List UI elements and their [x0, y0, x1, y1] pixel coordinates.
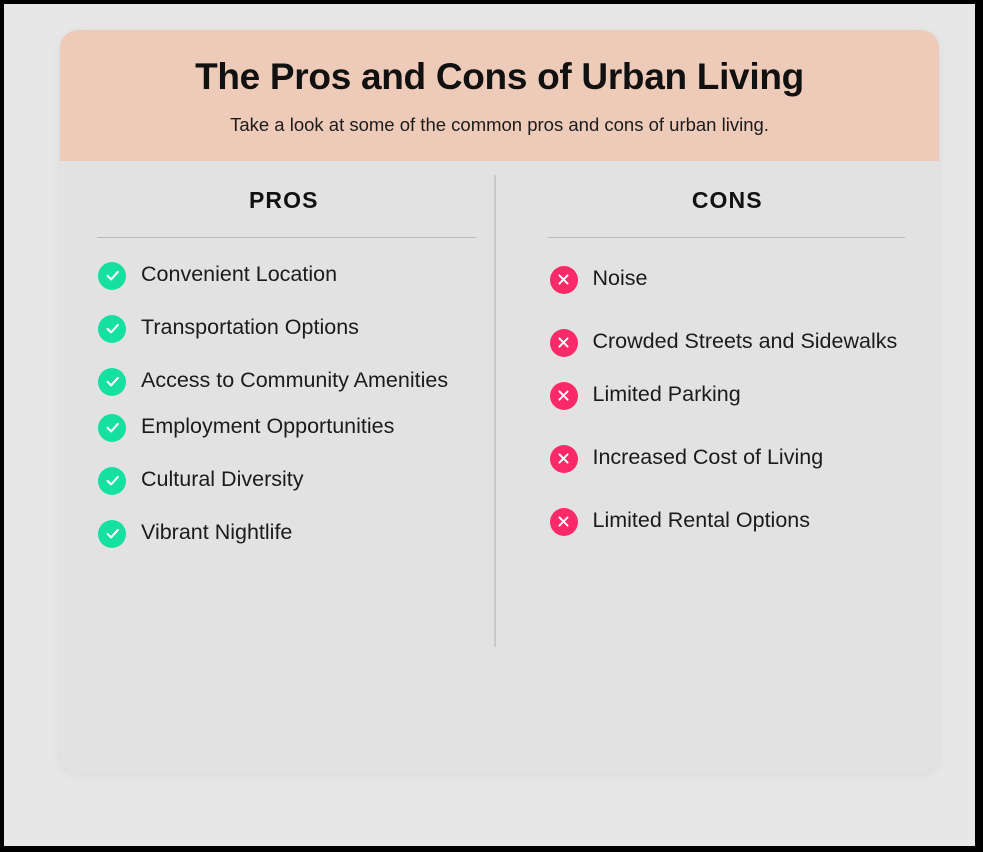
cons-list: Noise Crowded Streets and Sidewalks — [538, 264, 910, 536]
page-background: The Pros and Cons of Urban Living Take a… — [4, 4, 975, 846]
list-item: Access to Community Amenities — [82, 366, 486, 396]
cons-column-title: CONS — [538, 187, 910, 214]
list-item: Crowded Streets and Sidewalks — [538, 327, 910, 357]
x-circle-icon — [550, 266, 578, 294]
pros-column: PROS Convenient Location — [60, 161, 500, 705]
list-item-label: Increased Cost of Living — [593, 443, 824, 471]
list-item: Increased Cost of Living — [538, 443, 910, 473]
list-item-label: Access to Community Amenities — [141, 366, 448, 394]
card-body: PROS Convenient Location — [60, 161, 939, 705]
pros-cons-card: The Pros and Cons of Urban Living Take a… — [60, 30, 939, 773]
list-item-label: Cultural Diversity — [141, 465, 303, 493]
list-item-label: Limited Parking — [593, 380, 741, 408]
pros-list: Convenient Location Transportation Optio… — [82, 260, 486, 548]
check-circle-icon — [98, 467, 126, 495]
list-item-label: Crowded Streets and Sidewalks — [593, 327, 898, 355]
list-item: Noise — [538, 264, 910, 294]
card-header: The Pros and Cons of Urban Living Take a… — [60, 30, 939, 161]
list-item: Vibrant Nightlife — [82, 518, 486, 548]
list-item: Transportation Options — [82, 313, 486, 343]
list-item-label: Convenient Location — [141, 260, 337, 288]
x-circle-icon — [550, 329, 578, 357]
list-item: Limited Rental Options — [538, 506, 910, 536]
check-circle-icon — [98, 315, 126, 343]
cons-column: CONS Noise — [500, 161, 940, 705]
x-circle-icon — [550, 508, 578, 536]
list-item-label: Noise — [593, 264, 648, 292]
x-circle-icon — [550, 382, 578, 410]
list-item: Cultural Diversity — [82, 465, 486, 495]
list-item: Employment Opportunities — [82, 412, 486, 442]
column-divider — [494, 175, 496, 647]
pros-divider — [97, 237, 476, 238]
check-circle-icon — [98, 368, 126, 396]
list-item-label: Transportation Options — [141, 313, 359, 341]
list-item-label: Employment Opportunities — [141, 412, 394, 440]
list-item: Limited Parking — [538, 380, 910, 410]
cons-divider — [548, 237, 906, 238]
page-title: The Pros and Cons of Urban Living — [100, 56, 899, 99]
pros-column-title: PROS — [82, 187, 486, 214]
list-item-label: Limited Rental Options — [593, 506, 811, 534]
check-circle-icon — [98, 414, 126, 442]
check-circle-icon — [98, 520, 126, 548]
page-subtitle: Take a look at some of the common pros a… — [100, 113, 899, 137]
check-circle-icon — [98, 262, 126, 290]
list-item: Convenient Location — [82, 260, 486, 290]
x-circle-icon — [550, 445, 578, 473]
image-frame: The Pros and Cons of Urban Living Take a… — [0, 0, 983, 852]
list-item-label: Vibrant Nightlife — [141, 518, 292, 546]
